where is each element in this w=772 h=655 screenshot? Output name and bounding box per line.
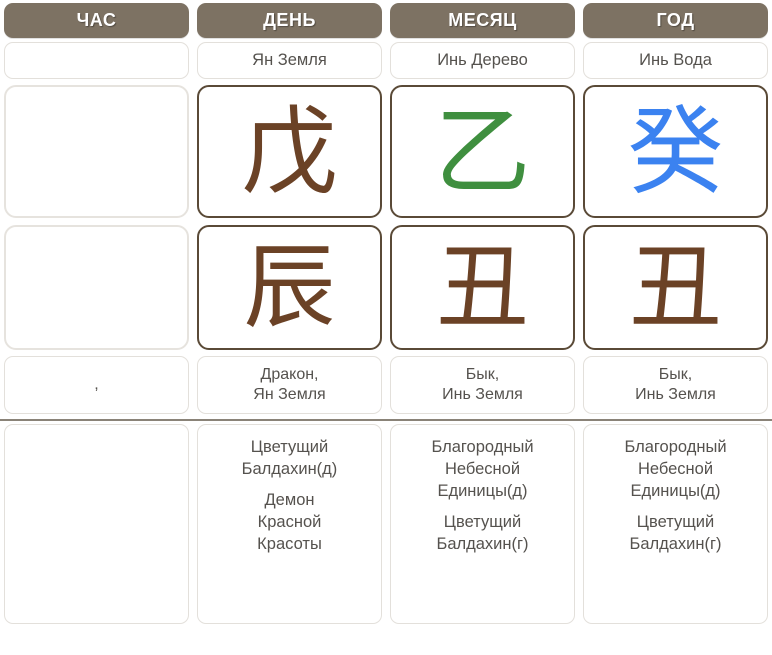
header-box-day[interactable]: ДЕНЬ <box>197 3 382 38</box>
stem-element-box-hour[interactable] <box>4 42 189 79</box>
header-cell-hour: ЧАС <box>0 0 193 40</box>
star-group: Демон Красной Красоты <box>257 489 322 555</box>
header-label-day: ДЕНЬ <box>263 10 316 31</box>
stem-element-label-day: Ян Земля <box>252 50 327 71</box>
branch-glyph-box-month[interactable]: 丑 <box>390 225 575 350</box>
heavenly-stem-row: 戊 乙 癸 <box>0 82 772 222</box>
stem-element-box-month[interactable]: Инь Дерево <box>390 42 575 79</box>
branch-glyph-box-hour[interactable] <box>4 225 189 350</box>
stars-cell-month: Благородный Небесной Единицы(д)Цветущий … <box>386 424 579 624</box>
stem-element-box-day[interactable]: Ян Земля <box>197 42 382 79</box>
pillar-header-row: ЧАС ДЕНЬ МЕСЯЦ ГОД <box>0 0 772 40</box>
branch-glyph-day: 辰 <box>243 242 335 334</box>
symbolic-stars-row: Цветущий Балдахин(д)Демон Красной Красот… <box>0 424 772 624</box>
stem-glyph-box-day[interactable]: 戊 <box>197 85 382 218</box>
branch-glyph-box-day[interactable]: 辰 <box>197 225 382 350</box>
branch-animal-box-year[interactable]: Бык, Инь Земля <box>583 356 768 414</box>
header-cell-year: ГОД <box>579 0 772 40</box>
branch-glyph-cell-month: 丑 <box>386 222 579 354</box>
stem-element-row: Ян Земля Инь Дерево Инь Вода <box>0 40 772 82</box>
stem-glyph-cell-day: 戊 <box>193 82 386 222</box>
stars-box-day[interactable]: Цветущий Балдахин(д)Демон Красной Красот… <box>197 424 382 624</box>
stem-glyph-box-year[interactable]: 癸 <box>583 85 768 218</box>
stars-cell-hour <box>0 424 193 624</box>
stem-glyph-cell-hour <box>0 82 193 222</box>
branch-glyph-cell-hour <box>0 222 193 354</box>
stem-element-cell-year: Инь Вода <box>579 40 772 82</box>
branch-glyph-year: 丑 <box>629 242 721 334</box>
stem-glyph-day: 戊 <box>242 104 338 200</box>
branch-animal-box-hour[interactable]: , <box>4 356 189 414</box>
header-box-hour[interactable]: ЧАС <box>4 3 189 38</box>
branch-animal-label-hour: , <box>94 375 98 395</box>
branch-animal-label-year: Бык, Инь Земля <box>635 365 716 405</box>
branch-glyph-month: 丑 <box>436 242 528 334</box>
header-label-hour: ЧАС <box>77 10 117 31</box>
earthly-branch-row: 辰 丑 丑 <box>0 222 772 354</box>
branch-animal-cell-year: Бык, Инь Земля <box>579 354 772 418</box>
branch-glyph-cell-day: 辰 <box>193 222 386 354</box>
header-label-year: ГОД <box>656 10 694 31</box>
stars-cell-day: Цветущий Балдахин(д)Демон Красной Красот… <box>193 424 386 624</box>
header-cell-month: МЕСЯЦ <box>386 0 579 40</box>
header-label-month: МЕСЯЦ <box>448 10 517 31</box>
branch-animal-label-month: Бык, Инь Земля <box>442 365 523 405</box>
stem-element-cell-hour <box>0 40 193 82</box>
stem-glyph-cell-year: 癸 <box>579 82 772 222</box>
header-box-month[interactable]: МЕСЯЦ <box>390 3 575 38</box>
branch-animal-box-month[interactable]: Бык, Инь Земля <box>390 356 575 414</box>
stem-glyph-box-hour[interactable] <box>4 85 189 218</box>
stars-box-year[interactable]: Благородный Небесной Единицы(д)Цветущий … <box>583 424 768 624</box>
stem-glyph-month: 乙 <box>435 104 531 200</box>
stem-glyph-cell-month: 乙 <box>386 82 579 222</box>
stem-element-cell-day: Ян Земля <box>193 40 386 82</box>
star-group: Цветущий Балдахин(г) <box>629 511 721 555</box>
branch-animal-cell-month: Бык, Инь Земля <box>386 354 579 418</box>
branch-animal-box-day[interactable]: Дракон, Ян Земля <box>197 356 382 414</box>
branch-animal-row: , Дракон, Ян Земля Бык, Инь Земля Бык, И… <box>0 354 772 418</box>
branch-animal-cell-day: Дракон, Ян Земля <box>193 354 386 418</box>
stem-element-label-year: Инь Вода <box>639 50 712 71</box>
branch-animal-label-day: Дракон, Ян Земля <box>253 365 325 405</box>
stars-box-hour[interactable] <box>4 424 189 624</box>
branch-glyph-cell-year: 丑 <box>579 222 772 354</box>
star-group: Цветущий Балдахин(г) <box>436 511 528 555</box>
stem-element-box-year[interactable]: Инь Вода <box>583 42 768 79</box>
stars-box-month[interactable]: Благородный Небесной Единицы(д)Цветущий … <box>390 424 575 624</box>
stem-glyph-box-month[interactable]: 乙 <box>390 85 575 218</box>
section-divider <box>0 419 772 421</box>
star-group: Благородный Небесной Единицы(д) <box>624 436 726 502</box>
stem-element-cell-month: Инь Дерево <box>386 40 579 82</box>
branch-glyph-box-year[interactable]: 丑 <box>583 225 768 350</box>
stem-element-label-month: Инь Дерево <box>437 50 528 71</box>
star-group: Благородный Небесной Единицы(д) <box>431 436 533 502</box>
stem-glyph-year: 癸 <box>628 104 724 200</box>
star-group: Цветущий Балдахин(д) <box>242 436 338 480</box>
header-cell-day: ДЕНЬ <box>193 0 386 40</box>
header-box-year[interactable]: ГОД <box>583 3 768 38</box>
stars-cell-year: Благородный Небесной Единицы(д)Цветущий … <box>579 424 772 624</box>
branch-animal-cell-hour: , <box>0 354 193 418</box>
bazi-four-pillars-chart: ЧАС ДЕНЬ МЕСЯЦ ГОД Ян Земля <box>0 0 772 655</box>
